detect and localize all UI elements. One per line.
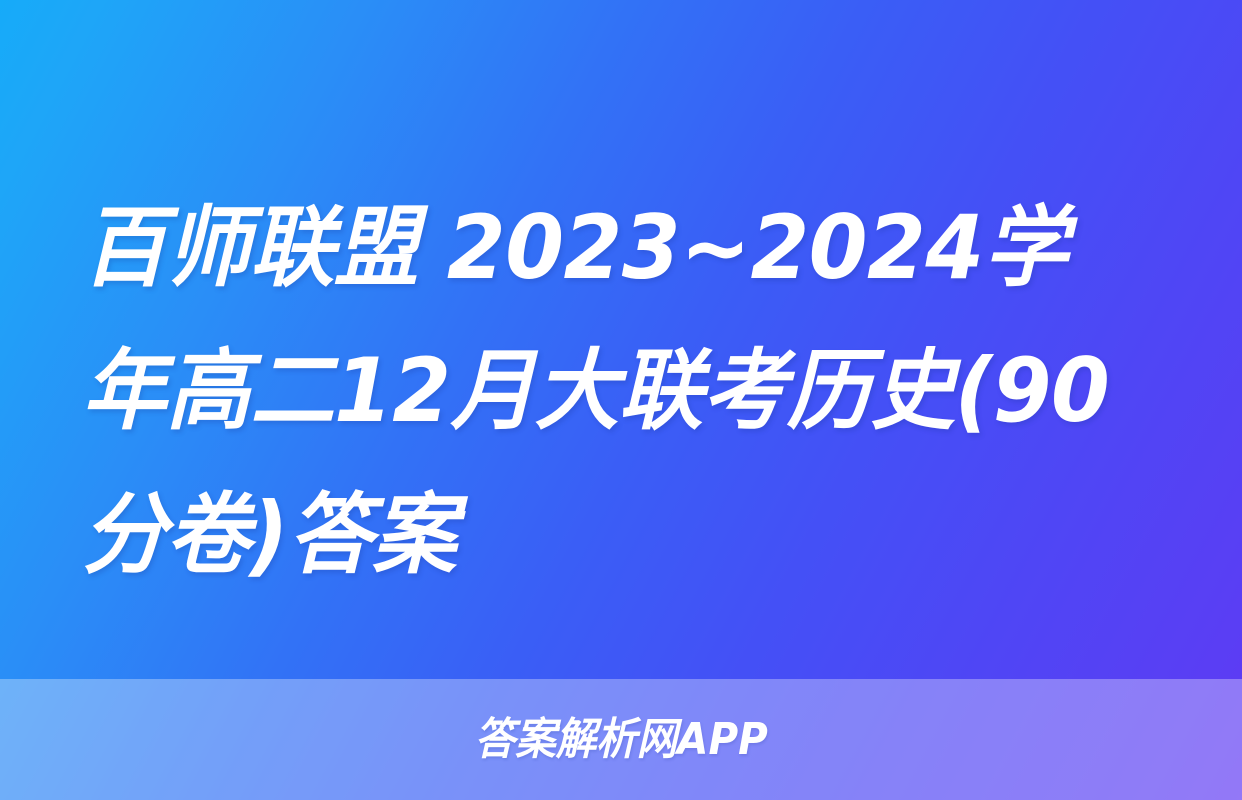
watermark-app-label: 答案解析网APP	[474, 718, 767, 762]
title-block: 百师联盟 2023~2024学年高二12月大联考历史(90分卷)答案	[82, 176, 1164, 606]
page-title: 百师联盟 2023~2024学年高二12月大联考历史(90分卷)答案	[82, 176, 1121, 606]
poster-canvas: 百师联盟 2023~2024学年高二12月大联考历史(90分卷)答案 答案解析网…	[0, 0, 1242, 800]
watermark-band: 答案解析网APP	[0, 679, 1242, 800]
